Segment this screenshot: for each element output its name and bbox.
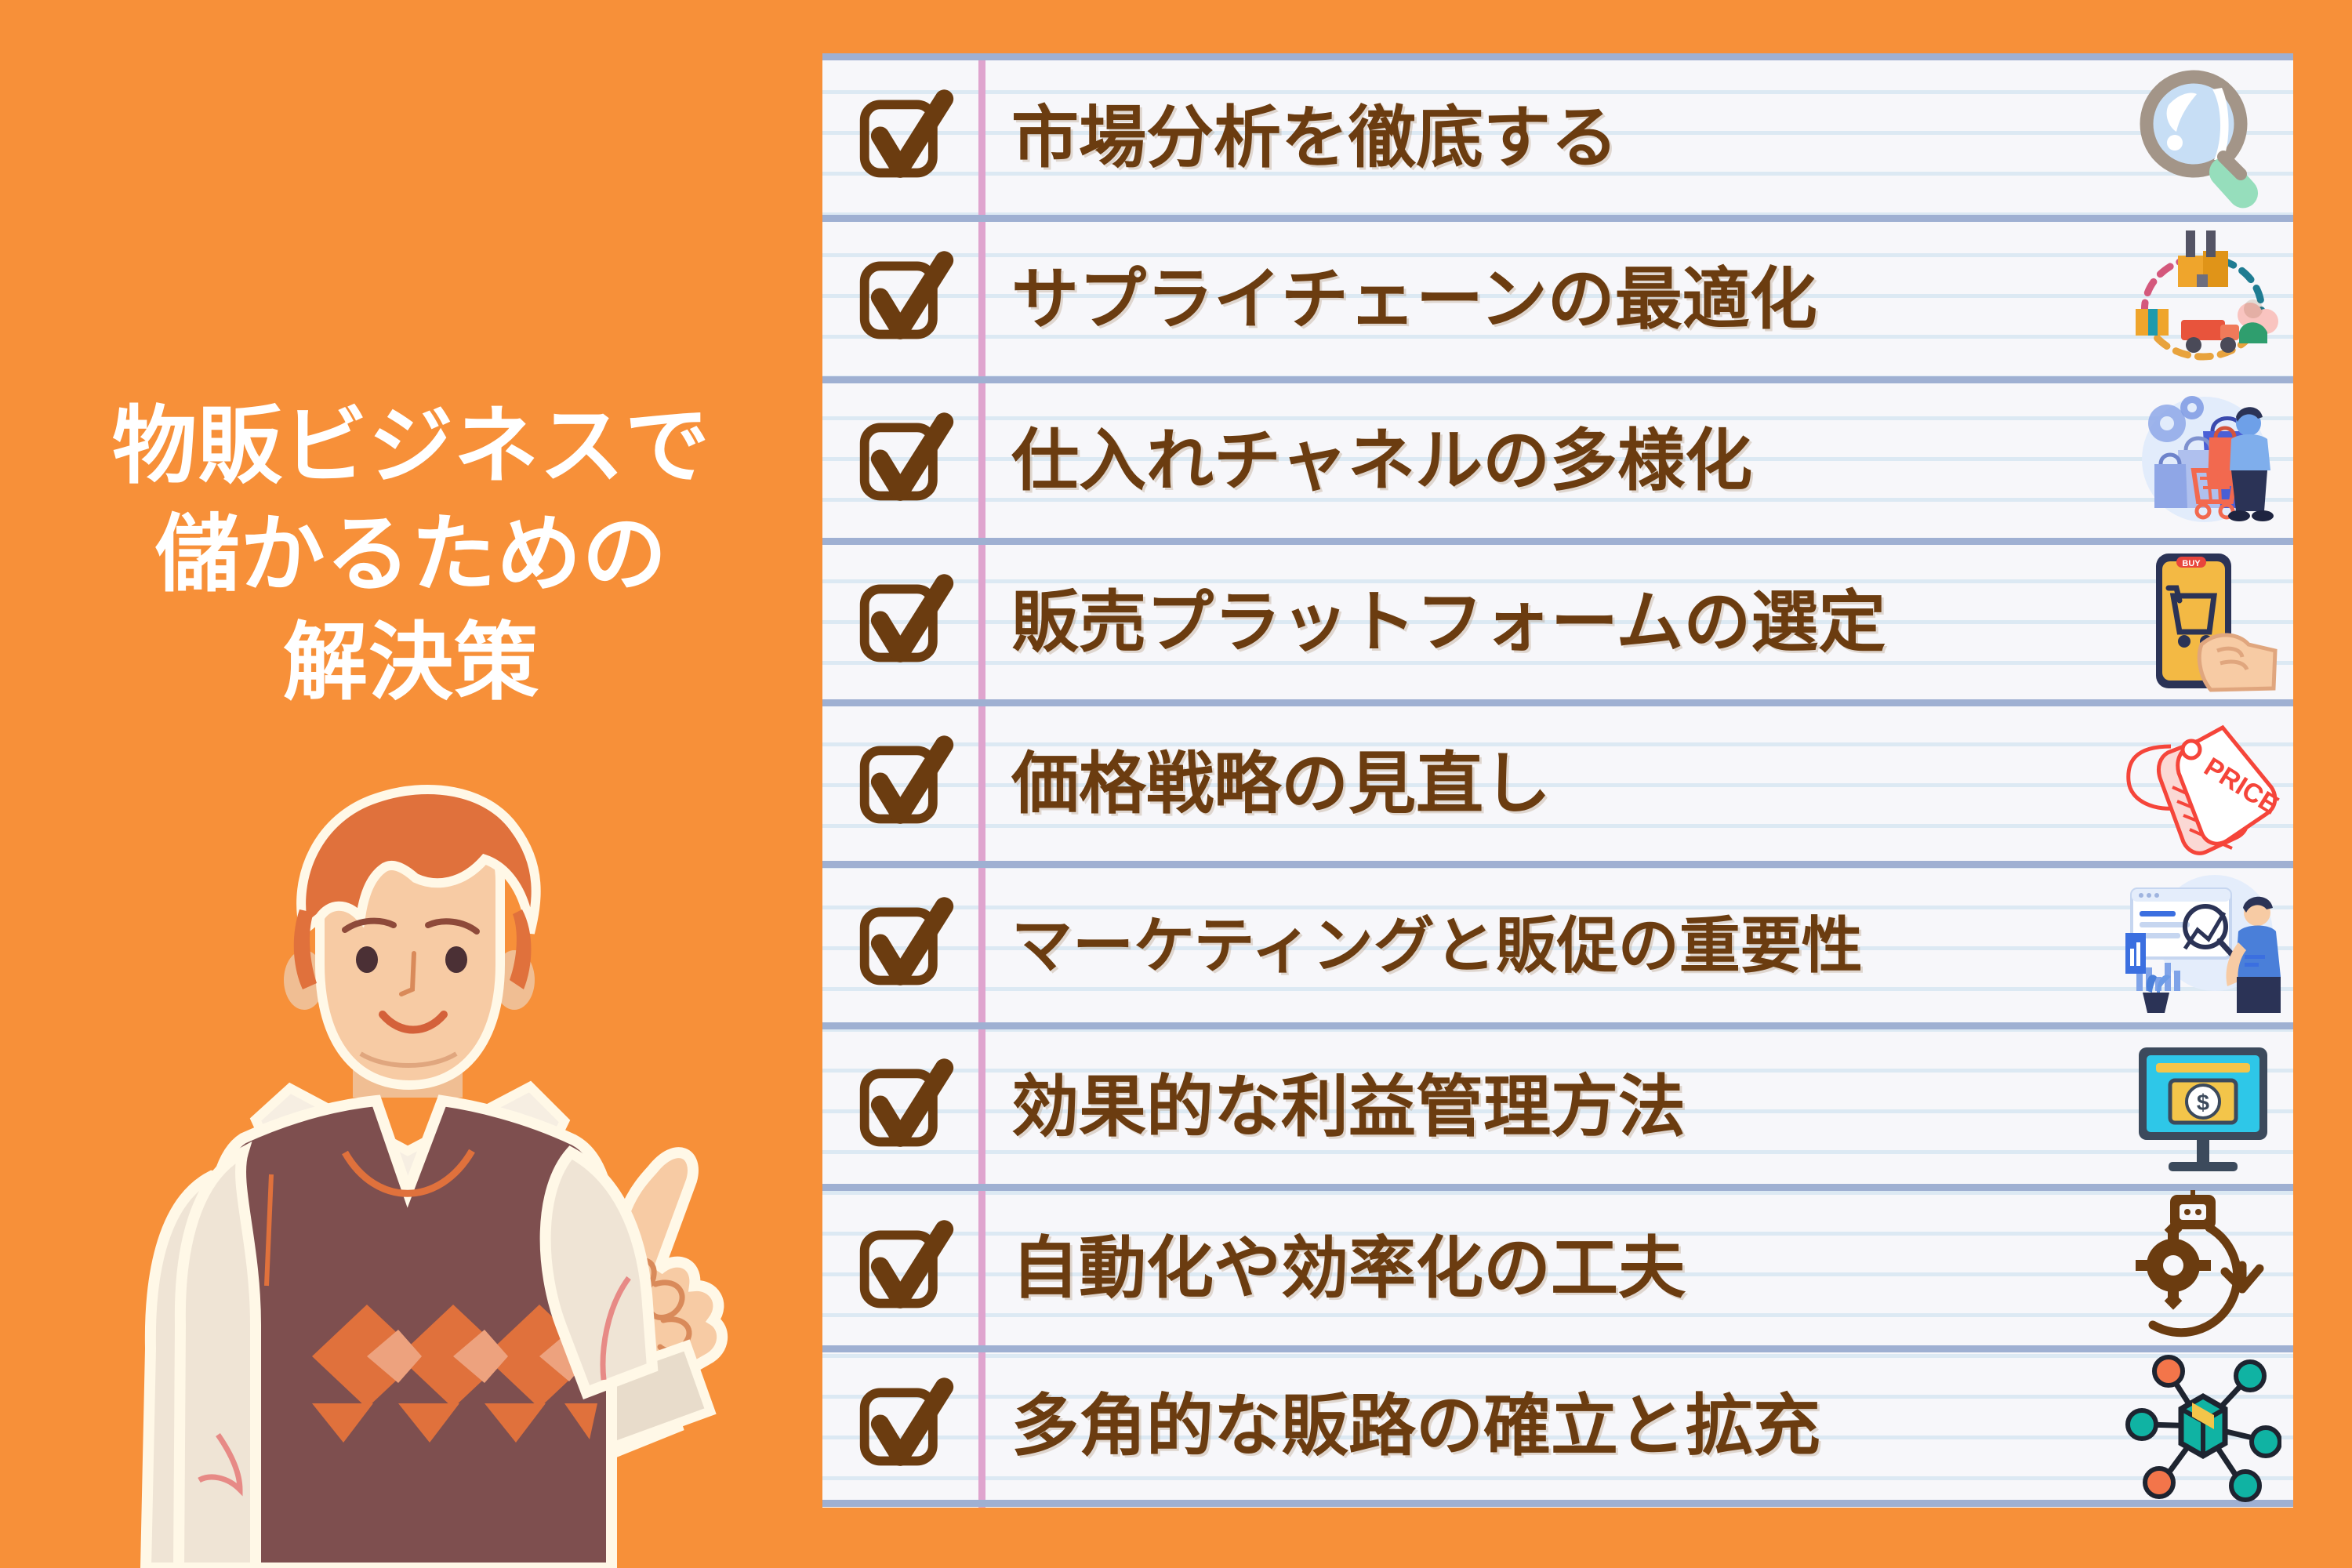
shopping-channels-icon [2125, 383, 2281, 539]
checkbox-cell[interactable] [822, 383, 978, 538]
price-tag-icon: PRICE [2121, 706, 2285, 862]
checkbox-cell[interactable] [822, 1191, 978, 1345]
list-item-label: 販売プラットフォームの選定 [1011, 589, 2113, 656]
item-icon-cell [2113, 868, 2293, 1022]
item-icon-cell: BUY [2113, 545, 2293, 699]
list-item[interactable]: 販売プラットフォームの選定 BUY [822, 538, 2293, 699]
list-item-label: 自動化や効率化の工夫 [1011, 1235, 2113, 1302]
item-icon-cell [2113, 60, 2293, 215]
left-panel: 物販ビジネスで 儲かるための 解決策 [0, 0, 822, 1568]
list-item[interactable]: 仕入れチャネルの多様化 [822, 376, 2293, 538]
label-cell: 価格戦略の見直し [978, 750, 2113, 818]
label-cell: サプライチェーンの最適化 [978, 266, 2113, 333]
list-item-label: サプライチェーンの最適化 [1011, 266, 2113, 333]
supply-chain-icon [2125, 221, 2281, 378]
list-item-label: マーケティングと販促の重要性 [1011, 915, 2113, 976]
checkbox-cell[interactable] [822, 706, 978, 861]
list-item[interactable]: マーケティングと販促の重要性 [822, 861, 2293, 1022]
checkbox-cell[interactable] [822, 1029, 978, 1184]
label-cell: 効果的な利益管理方法 [978, 1073, 2113, 1141]
item-icon-cell [2113, 1352, 2293, 1500]
label-cell: 販売プラットフォームの選定 [978, 589, 2113, 656]
checkbox-cell[interactable] [822, 222, 978, 376]
checkbox-cell[interactable] [822, 545, 978, 699]
mobile-shopping-icon: BUY [2125, 544, 2281, 701]
checked-checkbox-icon[interactable] [855, 253, 947, 346]
checked-checkbox-icon[interactable] [855, 1061, 947, 1153]
list-item[interactable]: サプライチェーンの最適化 [822, 215, 2293, 376]
magnifying-glass-icon [2125, 60, 2281, 216]
list-item-label: 仕入れチャネルの多様化 [1011, 427, 2113, 495]
list-item-label: 市場分析を徹底する [1011, 104, 2113, 172]
page-title: 物販ビジネスで 儲かるための 解決策 [0, 392, 822, 717]
distribution-network-icon [2125, 1348, 2281, 1504]
label-cell: 多角的な販路の確立と拡充 [978, 1392, 2113, 1460]
checked-checkbox-icon[interactable] [855, 899, 947, 992]
label-cell: マーケティングと販促の重要性 [978, 915, 2113, 976]
list-item[interactable]: 多角的な販路の確立と拡充 [822, 1345, 2293, 1507]
checked-checkbox-icon[interactable] [855, 415, 947, 507]
checked-checkbox-icon[interactable] [855, 738, 947, 830]
pointing-man-illustration [94, 784, 753, 1568]
marketing-analytics-icon [2121, 867, 2285, 1024]
list-item-label: 価格戦略の見直し [1011, 750, 2113, 818]
money-monitor-icon: $ [2125, 1029, 2281, 1185]
checkbox-cell[interactable] [822, 60, 978, 215]
checked-checkbox-icon[interactable] [855, 92, 947, 184]
list-item-label: 多角的な販路の確立と拡充 [1011, 1392, 2113, 1460]
checkbox-cell[interactable] [822, 1352, 978, 1500]
checked-checkbox-icon[interactable] [855, 1222, 947, 1315]
list-item[interactable]: 市場分析を徹底する [822, 53, 2293, 215]
item-icon-cell: PRICE [2113, 706, 2293, 861]
list-item-label: 効果的な利益管理方法 [1011, 1073, 2113, 1141]
checked-checkbox-icon[interactable] [855, 576, 947, 669]
list-item[interactable]: 自動化や効率化の工夫 [822, 1184, 2293, 1345]
list-item[interactable]: 効果的な利益管理方法 $ [822, 1022, 2293, 1184]
checked-checkbox-icon[interactable] [855, 1380, 947, 1472]
checklist-rows: 市場分析を徹底する [822, 53, 2293, 1508]
label-cell: 仕入れチャネルの多様化 [978, 427, 2113, 495]
svg-text:$: $ [2197, 1091, 2209, 1116]
checklist-notebook: 市場分析を徹底する [822, 53, 2293, 1508]
item-icon-cell [2113, 222, 2293, 376]
item-icon-cell [2113, 383, 2293, 538]
item-icon-cell [2113, 1191, 2293, 1345]
item-icon-cell: $ [2113, 1029, 2293, 1184]
label-cell: 市場分析を徹底する [978, 104, 2113, 172]
checkbox-cell[interactable] [822, 868, 978, 1022]
label-cell: 自動化や効率化の工夫 [978, 1235, 2113, 1302]
svg-text:BUY: BUY [2182, 559, 2201, 568]
automation-gear-icon [2125, 1190, 2281, 1347]
list-item[interactable]: 価格戦略の見直し PRICE [822, 699, 2293, 861]
